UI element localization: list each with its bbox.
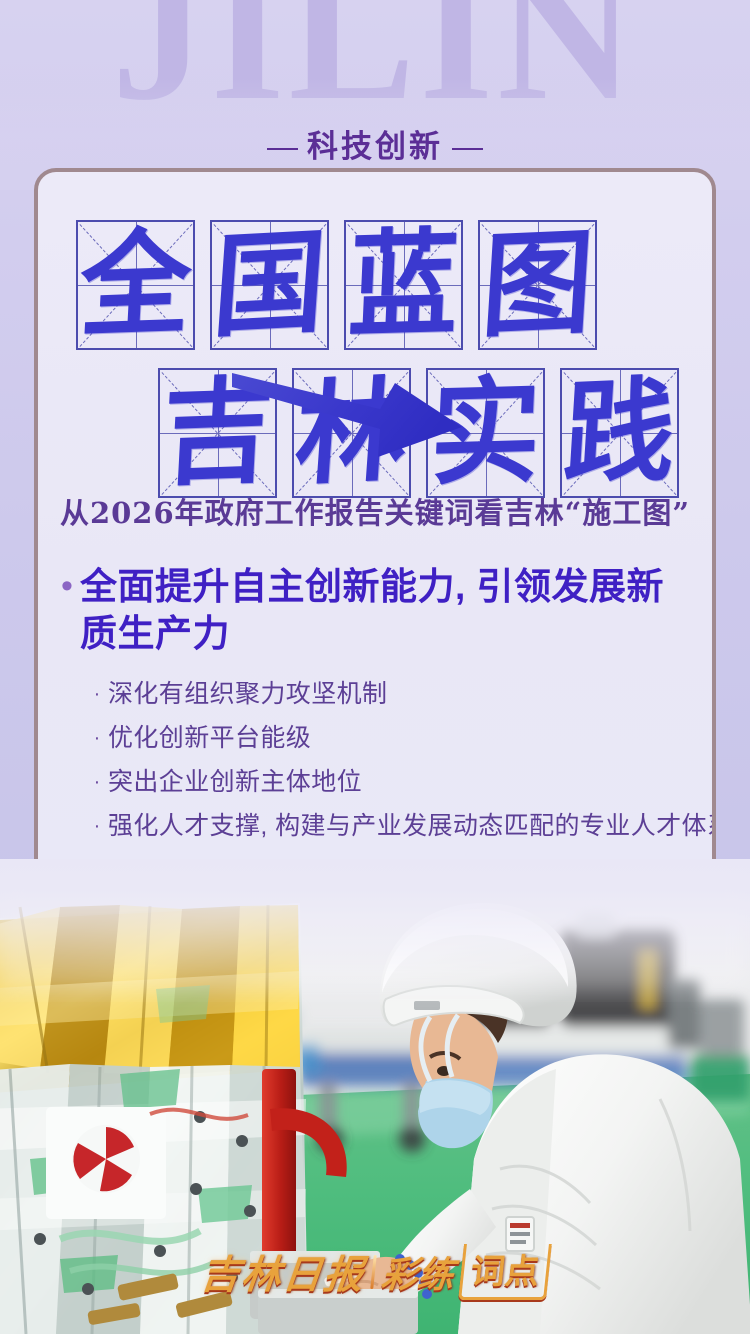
- sub-bullet-text: 优化创新平台能级: [108, 719, 311, 757]
- main-content-card: 全 国 蓝 图: [34, 168, 716, 920]
- sub-bullet-marker: ·: [86, 675, 108, 713]
- calligraphy-char: 全: [73, 216, 198, 354]
- calligraphy-char: 图: [475, 216, 601, 353]
- sub-bullet-text: 突出企业创新主体地位: [108, 763, 362, 801]
- list-item: · 强化人才支撑, 构建与产业发展动态匹配的专业人才体系: [86, 807, 714, 845]
- grid-cell: 吉: [158, 368, 277, 498]
- sub-bullet-marker: ·: [86, 807, 108, 845]
- calligraphy-char: 实: [424, 364, 546, 502]
- calligraphy-char: 国: [205, 216, 333, 353]
- grid-cell: 全: [76, 220, 195, 350]
- logo-main-text: 吉林日报: [198, 1244, 368, 1300]
- publisher-logo: 吉林日报 彩练 词点: [0, 1244, 750, 1300]
- grid-cell: 国: [210, 220, 329, 350]
- grid-cell: 林: [292, 368, 411, 498]
- calligraphy-char: 蓝: [342, 216, 464, 354]
- grid-cell: 图: [478, 220, 597, 350]
- sub-bullet-text: 强化人才支撑, 构建与产业发展动态匹配的专业人才体系: [108, 807, 716, 845]
- logo-box-text: 词点: [469, 1252, 541, 1292]
- jilin-watermark: JILIN: [0, 0, 750, 130]
- title-row-top: 全 国 蓝 图: [76, 220, 597, 350]
- sub-bullet-text: 深化有组织聚力攻坚机制: [108, 675, 387, 713]
- list-item: · 突出企业创新主体地位: [86, 763, 714, 801]
- poster-root: JILIN —科技创新— 全 国: [0, 0, 750, 1334]
- lead-bullet-marker: •: [54, 564, 80, 608]
- kicker-dash-right: —: [443, 129, 492, 164]
- grid-cell: 践: [560, 368, 679, 498]
- kicker-label: 科技创新: [307, 129, 443, 164]
- calligraphy-char: 林: [287, 364, 415, 501]
- bullet-content-block: • 全面提升自主创新能力, 引领发展新质生产力 · 深化有组织聚力攻坚机制 · …: [54, 564, 714, 851]
- lead-bullet-text: 全面提升自主创新能力, 引领发展新质生产力: [80, 564, 676, 657]
- logo-divider-bar: [370, 1255, 377, 1289]
- lead-bullet-row: • 全面提升自主创新能力, 引领发展新质生产力: [54, 564, 714, 657]
- sub-bullet-marker: ·: [86, 763, 108, 801]
- list-item: · 优化创新平台能级: [86, 719, 714, 757]
- logo-mid-text: 彩练: [379, 1246, 456, 1298]
- sub-bullet-marker: ·: [86, 719, 108, 757]
- list-item: · 深化有组织聚力攻坚机制: [86, 675, 714, 713]
- calligraphy-char: 吉: [155, 364, 280, 502]
- calligraphy-char: 践: [557, 364, 683, 501]
- logo-box-frame: 词点: [458, 1244, 552, 1300]
- kicker-banner: —科技创新—: [0, 121, 750, 166]
- grid-cell: 实: [426, 368, 545, 498]
- title-row-bottom: 吉 林 实 践: [158, 368, 679, 498]
- subtitle-line: 从2026年政府工作报告关键词看吉林“施工图”: [38, 490, 712, 532]
- calligraphy-title-block: 全 国 蓝 图: [38, 220, 716, 510]
- sub-bullet-list: · 深化有组织聚力攻坚机制 · 优化创新平台能级 · 突出企业创新主体地位 · …: [54, 675, 714, 845]
- kicker-dash-left: —: [258, 129, 307, 164]
- grid-cell: 蓝: [344, 220, 463, 350]
